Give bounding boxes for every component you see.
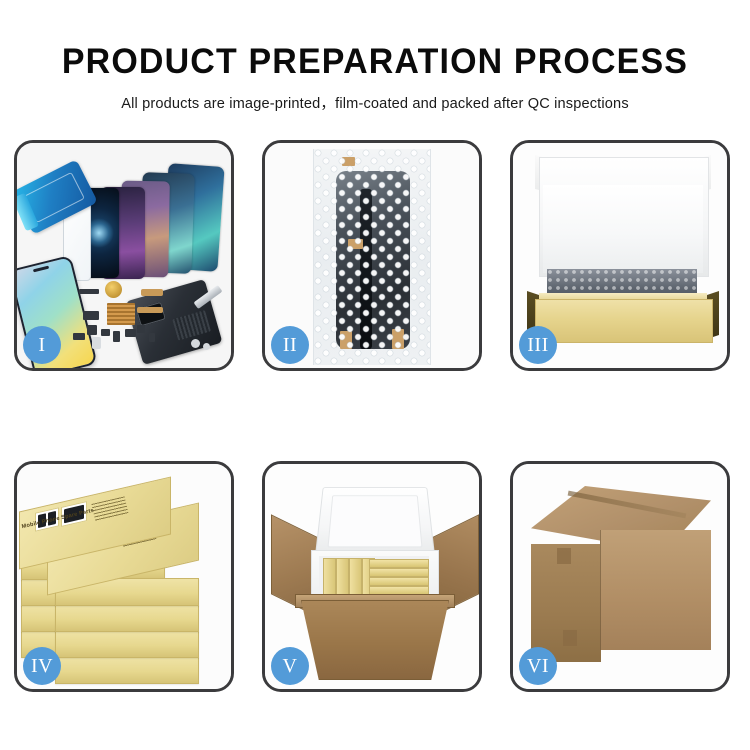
process-step-panel-3[interactable]: III xyxy=(510,140,730,371)
step-badge-2: II xyxy=(271,326,309,364)
process-step-panel-5[interactable]: V xyxy=(262,461,482,692)
page-subtitle: All products are image-printed，film-coat… xyxy=(0,79,750,113)
step-badge-3: III xyxy=(519,326,557,364)
step-badge-4: IV xyxy=(23,647,61,685)
process-step-panel-2[interactable]: II xyxy=(262,140,482,371)
step-badge-1: I xyxy=(23,326,61,364)
process-step-panel-4[interactable]: Mobile Phone Spare Parts Mobile Phone Sp… xyxy=(14,461,234,692)
process-panel-grid: I II xyxy=(14,140,736,692)
step-badge-6: VI xyxy=(519,647,557,685)
page-title: PRODUCT PREPARATION PROCESS xyxy=(11,0,739,79)
process-step-panel-1[interactable]: I xyxy=(14,140,234,371)
header: PRODUCT PREPARATION PROCESS All products… xyxy=(0,0,750,113)
process-step-panel-6[interactable]: VI xyxy=(510,461,730,692)
step-badge-5: V xyxy=(271,647,309,685)
